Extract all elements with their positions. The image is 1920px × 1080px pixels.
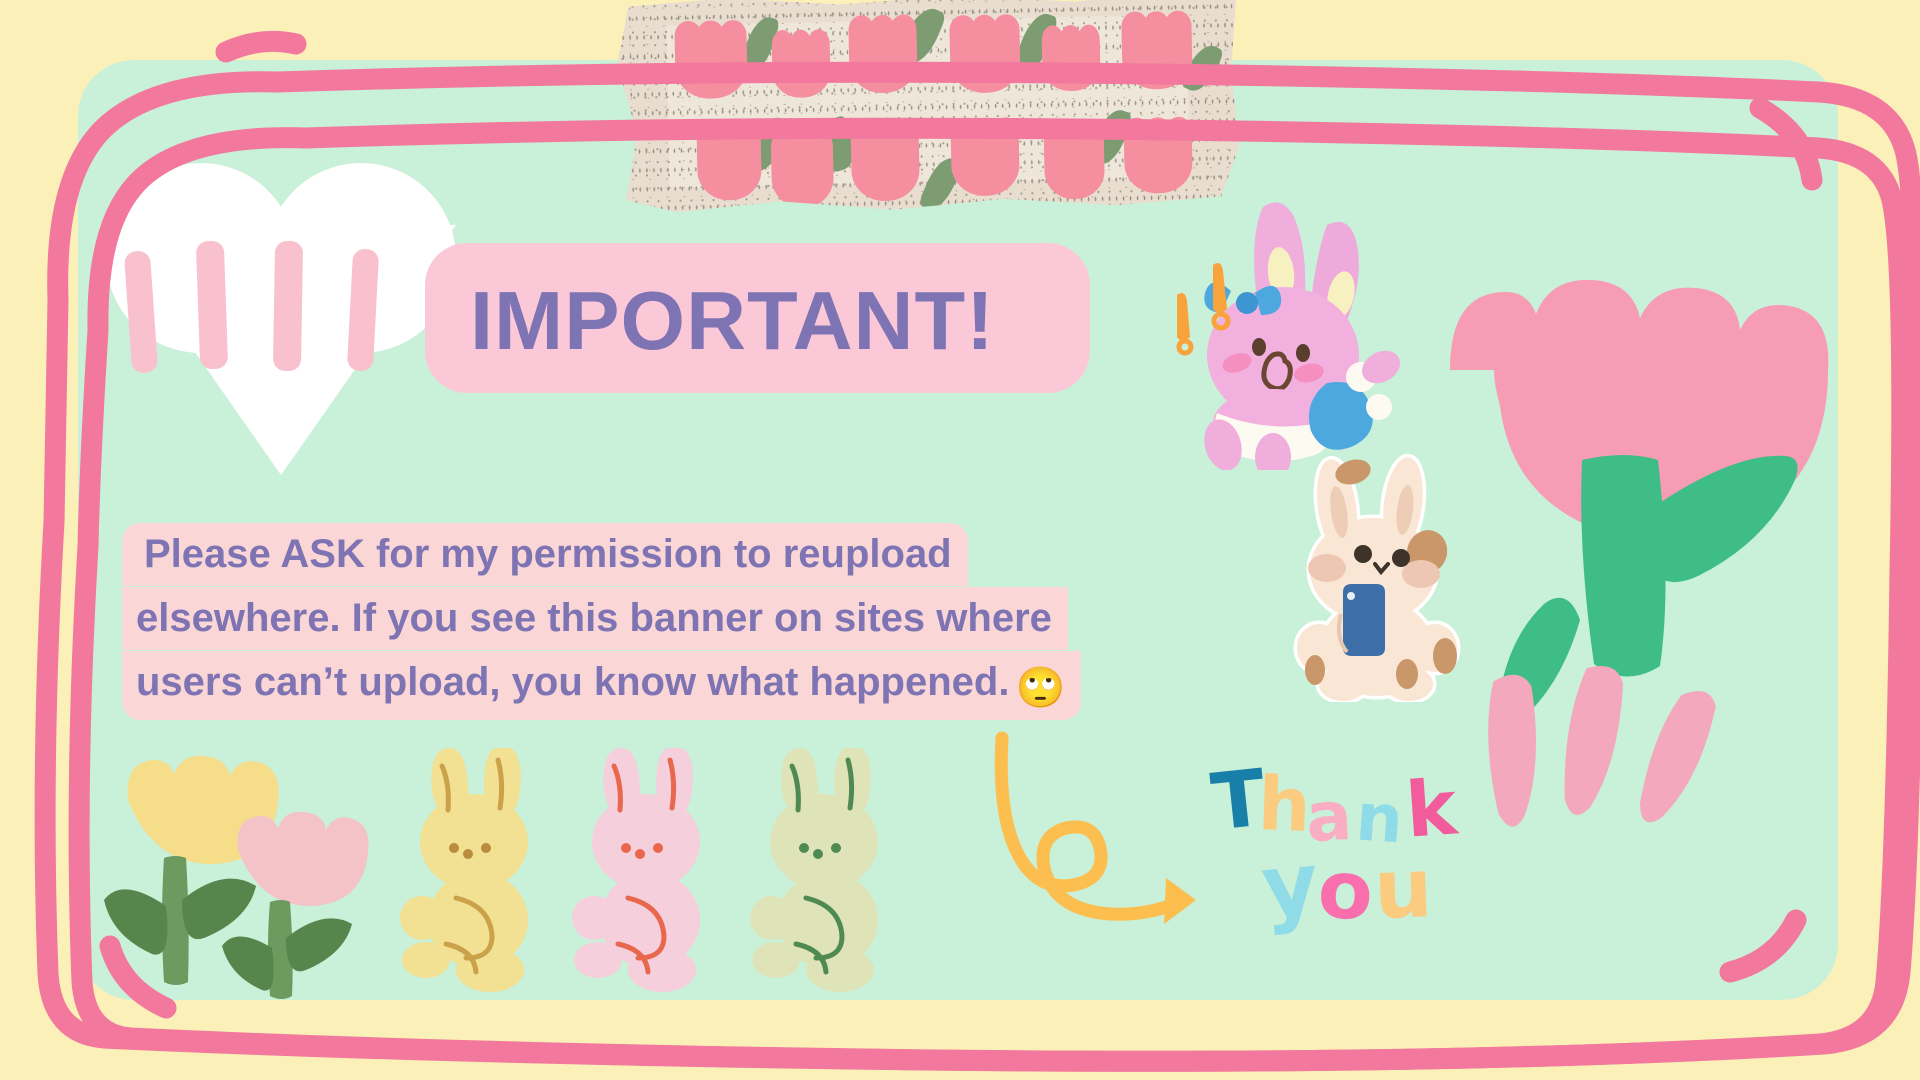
washi-tulip [771,131,835,208]
green-bunny-cookie [750,748,878,992]
eye-roll-emoji: 🙄 [1015,668,1065,708]
washi-tulip [850,122,920,201]
washi-tulip [950,117,1020,196]
exclamation-mark [196,241,228,370]
thank-you-letter: u [1372,841,1434,938]
washi-tulip [674,20,748,99]
thank-you-letter: y [1258,834,1323,939]
message-line-3: users can’t upload, you know what happen… [122,651,1081,720]
permission-message: Please ASK for my permission to reupload… [122,523,1162,721]
bunny-cookie-row [398,748,928,998]
washi-tulip [1123,116,1193,193]
flying-pink-bunny-sticker [1155,195,1415,470]
washi-tulip [1044,126,1105,199]
exclamation-mark [347,248,379,371]
banner-canvas: IMPORTANT! Please ASK for my permission … [0,0,1920,1080]
washi-tulip [1041,24,1100,91]
washi-tulip [771,29,830,98]
exclamation-mark [273,241,303,371]
thank-you-lettering: T h a n k y o u [1210,752,1510,952]
tulip-washi-tape [616,0,1240,215]
pink-bunny-cookie [572,748,700,992]
message-line-1: Please ASK for my permission to reupload [122,523,968,586]
yellow-bunny-cookie [400,748,528,992]
message-line-3-text: users can’t upload, you know what happen… [136,660,1009,704]
washi-tulip [696,124,762,201]
washi-tulip [949,14,1021,93]
white-heart-with-exclamations [106,163,456,483]
page-title: IMPORTANT! [470,262,1090,380]
message-line-2: elsewhere. If you see this banner on sit… [122,587,1068,650]
pink-bunny-art [1199,203,1406,471]
thank-you-letter: o [1316,843,1376,939]
washi-tulip [1121,10,1193,89]
big-tulip-art [1450,280,1828,831]
washi-tulip [848,14,918,93]
